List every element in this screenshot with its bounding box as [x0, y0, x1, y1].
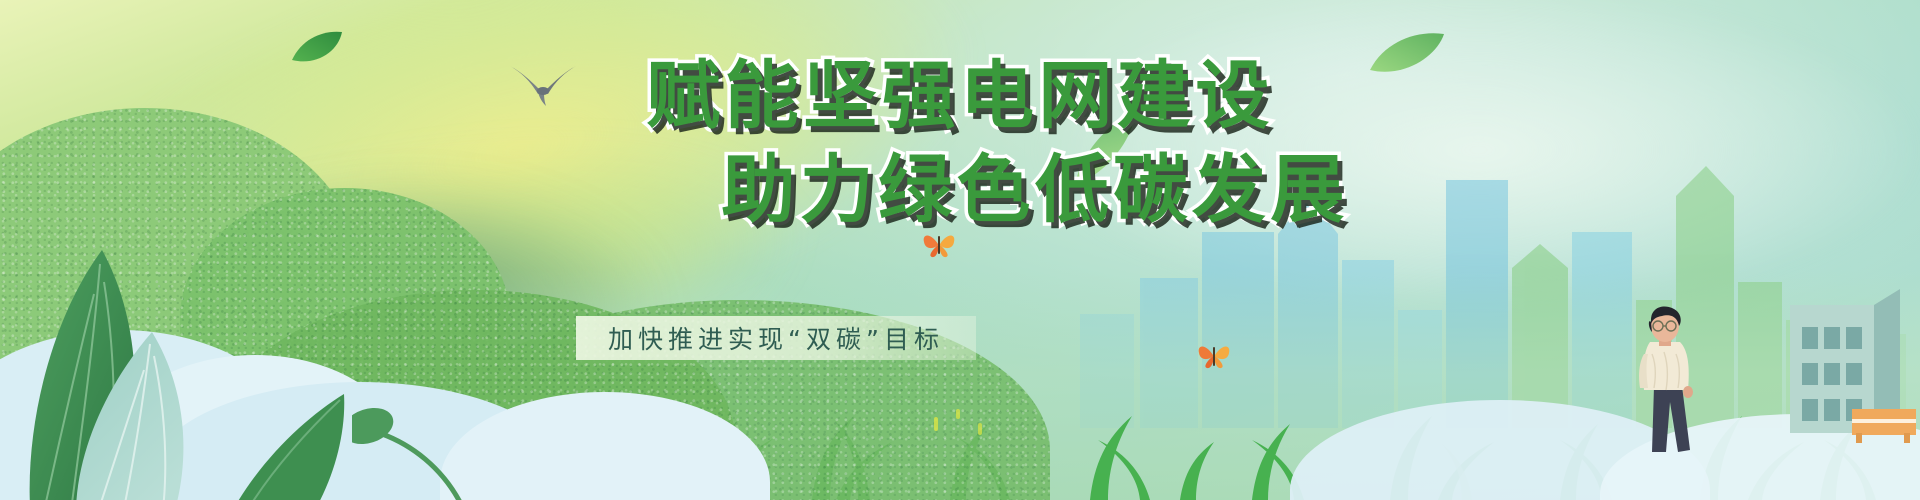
- park-bench: [1852, 403, 1920, 448]
- palm-leaf-small-svg: [212, 390, 352, 500]
- butterfly-right-svg: [1196, 338, 1232, 370]
- floating-leaf-top-left-svg: [290, 28, 344, 66]
- butterfly-center: [922, 228, 956, 263]
- eco-grid-banner: 赋能坚强电网建设 助力绿色低碳发展 加快推进实现“双碳”目标: [0, 0, 1920, 500]
- palm-leaf-small: [212, 390, 352, 500]
- swallow-bird-svg: [508, 62, 578, 106]
- floating-leaf-top-left: [290, 28, 344, 71]
- leaf-stem-right: [352, 396, 472, 500]
- spark-accent-svg: [930, 407, 990, 447]
- subtitle-plate: 加快推进实现“双碳”目标: [576, 316, 976, 360]
- floating-leaf-top-right-svg: [1368, 30, 1446, 76]
- park-bench-svg: [1852, 403, 1920, 443]
- spark-accent: [930, 407, 990, 452]
- floating-leaf-top-right: [1368, 30, 1446, 81]
- butterfly-right: [1196, 338, 1232, 375]
- leaf-stem-right-svg: [352, 396, 472, 500]
- walking-person-svg: [1630, 302, 1706, 452]
- swallow-bird: [508, 62, 578, 111]
- butterfly-center-svg: [922, 228, 956, 258]
- subtitle-text: 加快推进实现“双碳”目标: [608, 320, 944, 356]
- walking-person: [1630, 302, 1706, 452]
